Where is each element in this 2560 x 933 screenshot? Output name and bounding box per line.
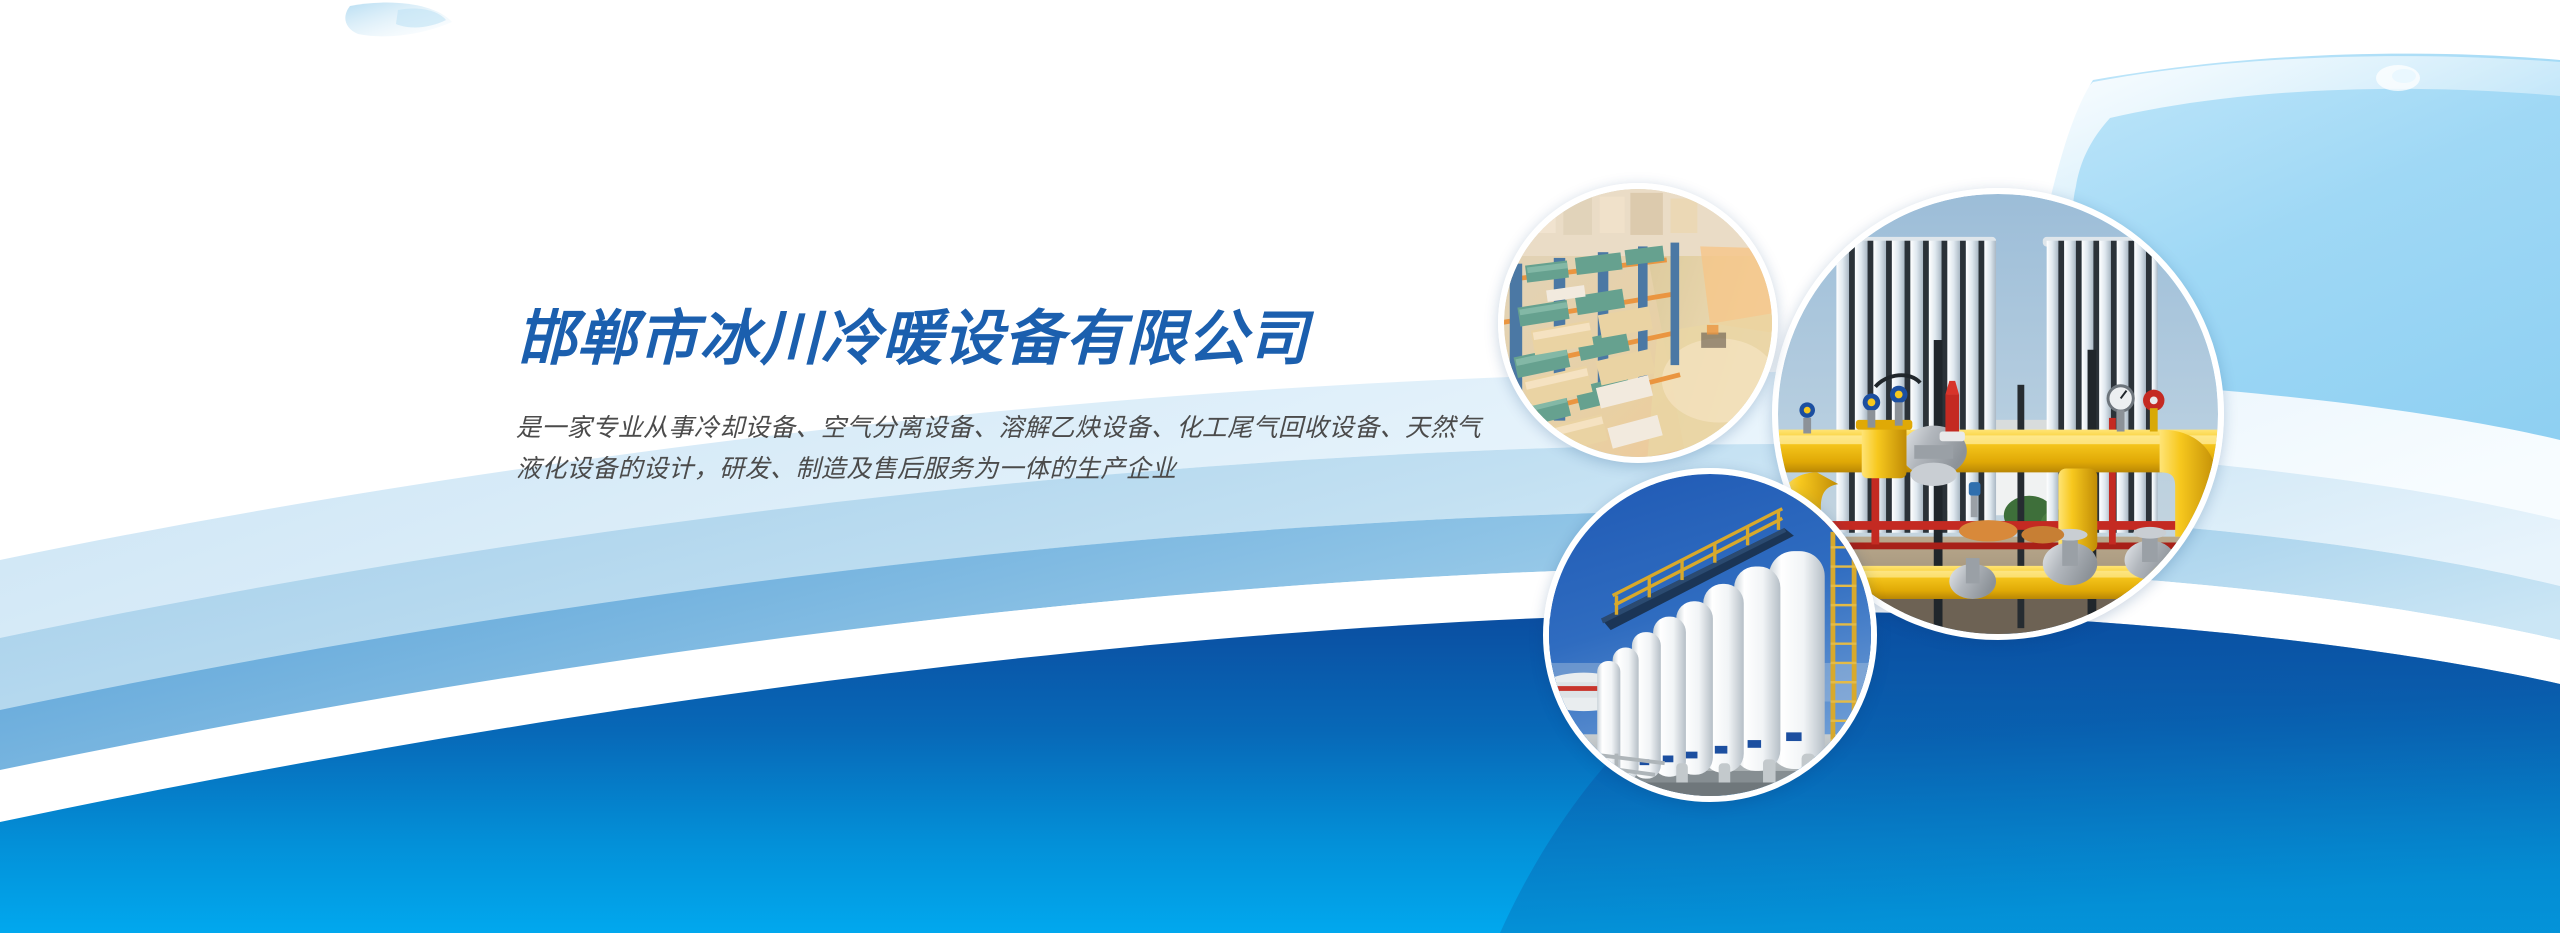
company-tagline: 是一家专业从事冷却设备、空气分离设备、溶解乙炔设备、化工尾气回收设备、天然气 液… (516, 408, 1516, 489)
photo-tanks-image (1549, 474, 1871, 796)
banner-text-block: 邯郸市冰川冷暖设备有限公司 是一家专业从事冷却设备、空气分离设备、溶解乙炔设备、… (516, 305, 1516, 489)
tagline-line-2: 液化设备的设计，研发、制造及售后服务为一体的生产企业 (516, 449, 1516, 490)
page-title: 邯郸市冰川冷暖设备有限公司 (516, 305, 1516, 372)
photo-tanks (1543, 468, 1877, 802)
company-banner: 邯郸市冰川冷暖设备有限公司 是一家专业从事冷却设备、空气分离设备、溶解乙炔设备、… (0, 0, 2560, 933)
photo-warehouse-image (1504, 189, 1772, 457)
tagline-line-1: 是一家专业从事冷却设备、空气分离设备、溶解乙炔设备、化工尾气回收设备、天然气 (516, 408, 1516, 449)
photo-warehouse (1498, 183, 1778, 463)
